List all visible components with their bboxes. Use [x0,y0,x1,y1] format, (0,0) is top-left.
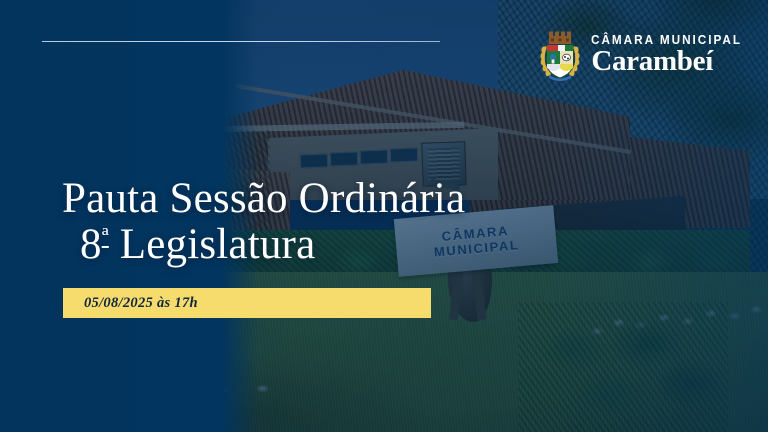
logo-line-2: Carambeí [591,47,752,76]
header-divider-rule [42,41,440,42]
page-title-line-2: 8ª Legislatura [62,222,465,268]
legislature-word: Legislatura [109,221,316,268]
camara-carambei-logo: CÂMARA MUNICIPAL Carambeí [538,28,752,82]
page-title-line-1: Pauta Sessão Ordinária [62,175,465,222]
ordinal-indicator: ª [102,224,109,251]
page-title: Pauta Sessão Ordinária 8ª Legislatura [62,176,465,268]
municipal-coat-of-arms-icon [538,28,582,82]
date-time-text: 05/08/2025 às 17h [63,295,198,312]
logo-line-1: CÂMARA MUNICIPAL [591,34,742,47]
legislature-number: 8 [80,221,102,268]
date-time-badge: 05/08/2025 às 17h [63,288,431,318]
announcement-banner: CÂMARA MUNICIPAL [0,0,768,432]
